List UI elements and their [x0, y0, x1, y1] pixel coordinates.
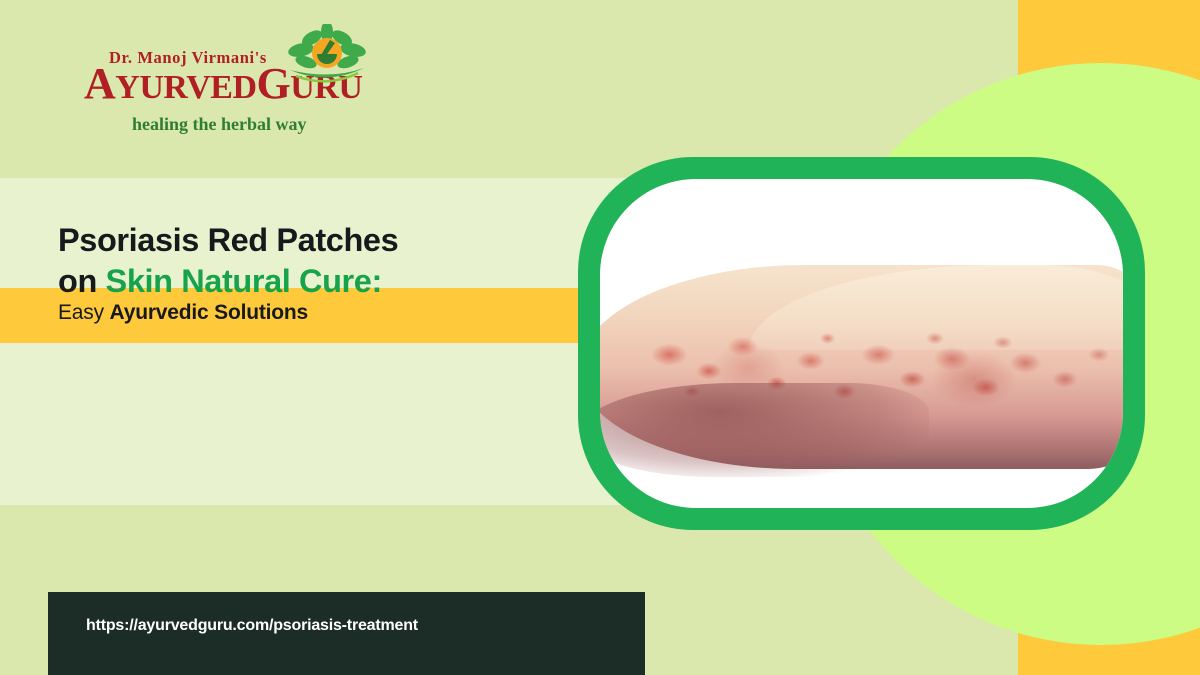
headline-line2-plain: on — [58, 263, 106, 299]
logo-wordmark-yurved: YURVED — [115, 69, 256, 106]
subheadline-light: Easy — [58, 301, 110, 324]
url-text: https://ayurvedguru.com/psoriasis-treatm… — [86, 617, 418, 635]
mortar-and-pestle-with-leaves-icon — [284, 24, 370, 90]
promo-banner: Dr. Manoj Virmani's AYURVEDGURU healing … — [0, 0, 1200, 675]
headline: Psoriasis Red Patcheson Skin Natural Cur… — [58, 220, 578, 303]
arm-shape — [600, 265, 1123, 469]
subheadline: Easy Ayurvedic Solutions — [58, 300, 308, 325]
logo-tagline: healing the herbal way — [132, 114, 307, 135]
subheadline-strong: Ayurvedic Solutions — [110, 301, 308, 324]
headline-line1: Psoriasis Red Patches — [58, 222, 398, 258]
arm-shadow — [600, 383, 929, 477]
logo-wordmark-a: A — [84, 59, 115, 108]
headline-line2-highlight: Skin Natural Cure: — [106, 263, 382, 299]
photo-card — [578, 157, 1145, 530]
url-bar[interactable]: https://ayurvedguru.com/psoriasis-treatm… — [48, 592, 645, 675]
psoriasis-arm-photo — [600, 179, 1123, 508]
brand-logo[interactable]: Dr. Manoj Virmani's AYURVEDGURU healing … — [84, 26, 384, 132]
